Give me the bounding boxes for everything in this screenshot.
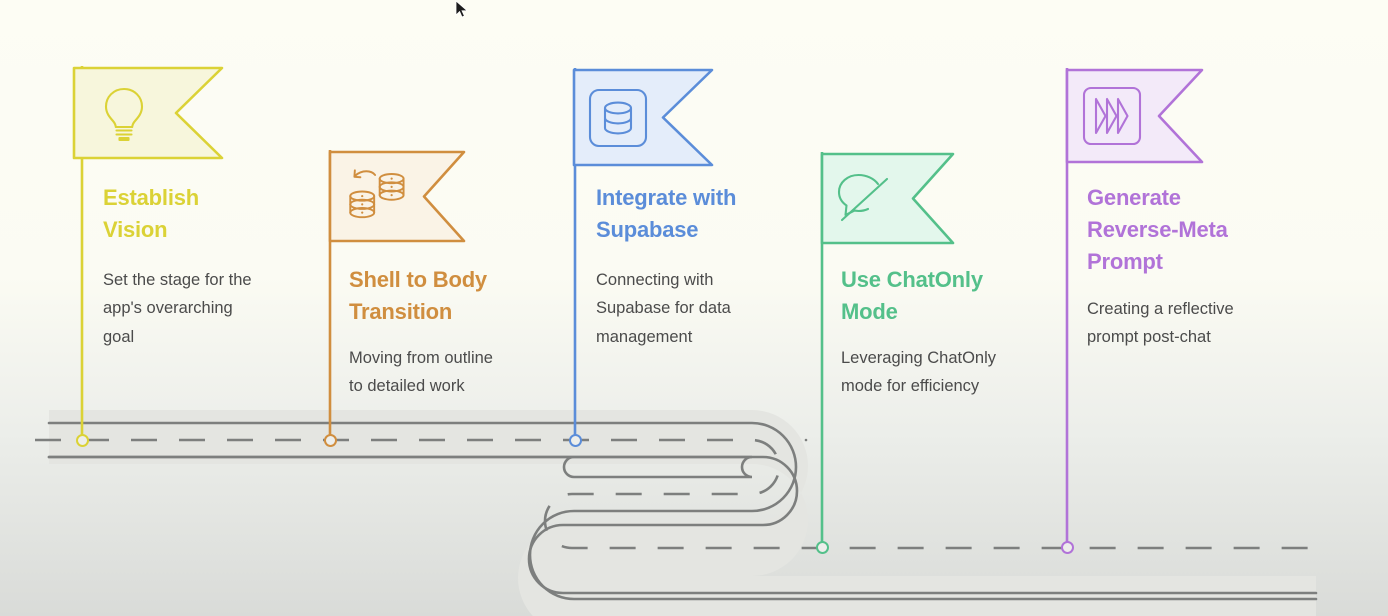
milestone-description-generate-reverse-meta-prompt: Creating a reflective prompt post-chat (1087, 295, 1234, 352)
milestone-description-integrate-with-supabase: Connecting with Supabase for data manage… (596, 266, 731, 351)
milestone-description-establish-vision: Set the stage for the app's overarching … (103, 266, 252, 351)
milestone-marker-generate-reverse-meta-prompt[interactable] (1061, 541, 1074, 554)
milestone-title-integrate-with-supabase: Integrate with Supabase (596, 182, 736, 246)
milestone-title-use-chatonly-mode: Use ChatOnly Mode (841, 264, 983, 328)
milestone-icon-establish-vision (90, 82, 158, 144)
milestone-title-generate-reverse-meta-prompt: Generate Reverse-Meta Prompt (1087, 182, 1228, 278)
milestone-title-establish-vision: Establish Vision (103, 182, 199, 246)
database-swap-icon (342, 166, 410, 228)
milestone-icon-generate-reverse-meta-prompt (1078, 85, 1146, 147)
triple-chevron-icon (1081, 85, 1143, 147)
lightbulb-icon (96, 83, 152, 143)
milestone-description-use-chatonly-mode: Leveraging ChatOnly mode for efficiency (841, 344, 996, 401)
milestone-marker-establish-vision[interactable] (76, 434, 89, 447)
roadmap-canvas: Establish VisionSet the stage for the ap… (0, 0, 1388, 616)
road-clean (49, 423, 1316, 603)
database-icon (587, 87, 649, 149)
milestone-icon-shell-to-body-transition (342, 166, 410, 228)
chat-off-icon (835, 170, 899, 228)
milestone-marker-use-chatonly-mode[interactable] (816, 541, 829, 554)
milestone-marker-integrate-with-supabase[interactable] (569, 434, 582, 447)
milestone-title-shell-to-body-transition: Shell to Body Transition (349, 264, 487, 328)
milestone-icon-use-chatonly-mode (833, 168, 901, 230)
milestone-icon-integrate-with-supabase (584, 87, 652, 149)
milestone-description-shell-to-body-transition: Moving from outline to detailed work (349, 344, 493, 401)
milestone-marker-shell-to-body-transition[interactable] (324, 434, 337, 447)
